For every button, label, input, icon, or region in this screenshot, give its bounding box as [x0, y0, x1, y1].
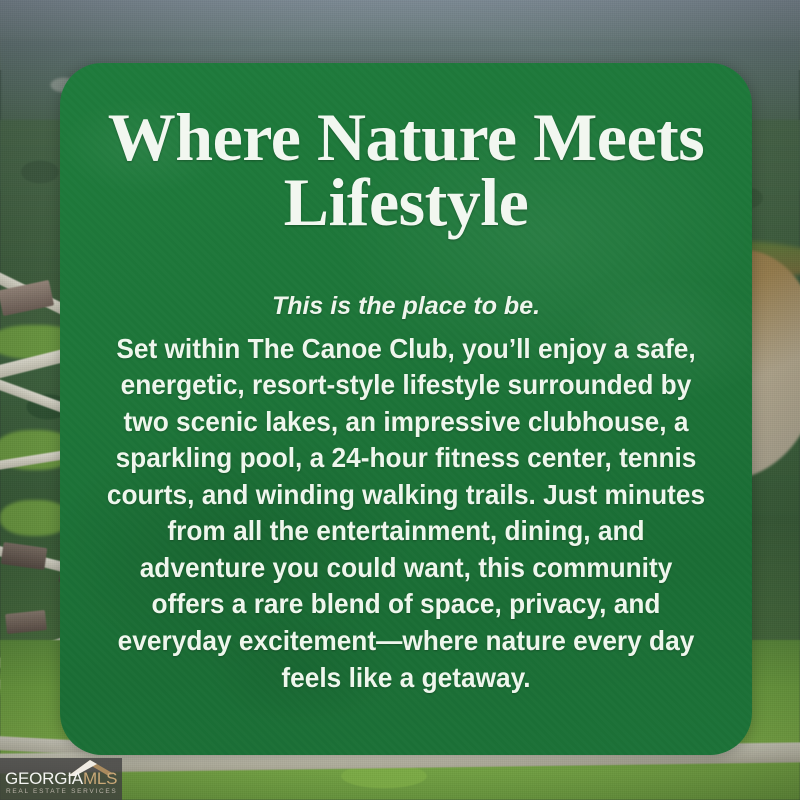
- watermark-brand-secondary: MLS: [83, 769, 117, 788]
- body-line: from all the entertainment, dining, and: [104, 513, 708, 550]
- page-title: Where Nature Meets Lifestyle: [84, 105, 728, 236]
- georgia-mls-watermark: GEORGIAMLS REAL ESTATE SERVICES: [0, 758, 122, 800]
- body-line: everyday excitement—where nature every d…: [104, 623, 708, 660]
- body-line: feels like a getaway.: [104, 660, 708, 697]
- body-line: adventure you could want, this community: [104, 550, 708, 587]
- promo-card: Where Nature Meets Lifestyle This is the…: [60, 63, 752, 755]
- subtitle: This is the place to be.: [84, 292, 728, 321]
- body-line: two scenic lakes, an impressive clubhous…: [104, 404, 708, 441]
- headline-line-2: Lifestyle: [284, 164, 529, 240]
- body-line: Set within The Canoe Club, you’ll enjoy …: [104, 331, 708, 368]
- body-line: offers a rare blend of space, privacy, a…: [104, 586, 708, 623]
- watermark-wordmark: GEORGIAMLS: [5, 770, 117, 787]
- body-copy: Set within The Canoe Club, you’ll enjoy …: [98, 331, 713, 697]
- watermark-brand-primary: GEORGIA: [5, 769, 83, 788]
- body-line: sparkling pool, a 24-hour fitness center…: [104, 440, 708, 477]
- watermark-tagline: REAL ESTATE SERVICES: [6, 788, 117, 795]
- body-line: courts, and winding walking trails. Just…: [104, 477, 708, 514]
- body-line: energetic, resort-style lifestyle surrou…: [104, 367, 708, 404]
